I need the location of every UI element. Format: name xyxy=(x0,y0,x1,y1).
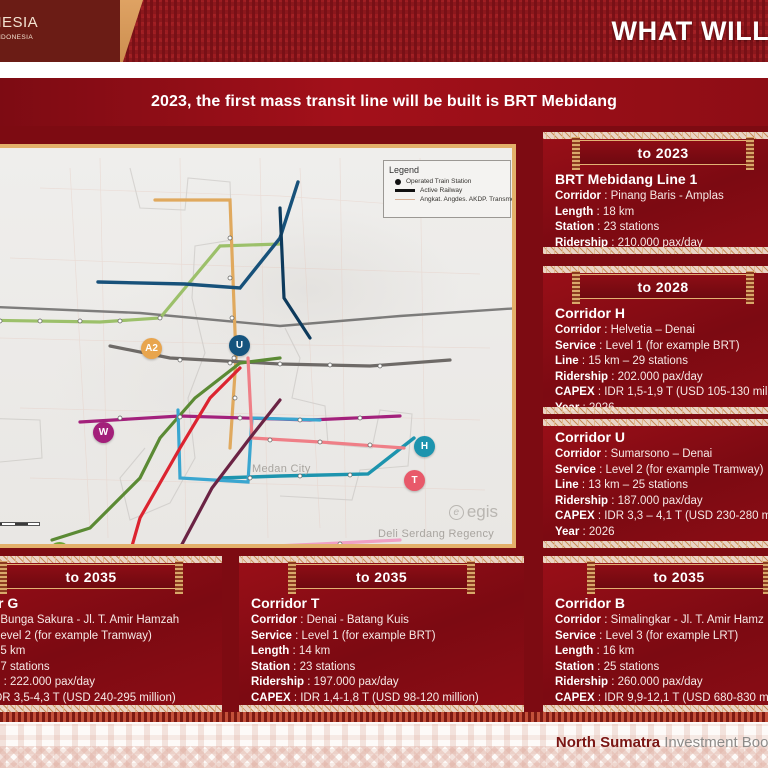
card-body-2: Corridor U Corridor : Sumarsono – Denai … xyxy=(543,419,768,542)
card-body-3: r G : Bunga Sakura - Jl. T. Amir Hamzah … xyxy=(0,591,222,712)
subtitle-text: 2023, the first mass transit line will b… xyxy=(151,93,617,111)
egis-circle-icon: e xyxy=(449,505,464,520)
card-row-3-2: 15 km xyxy=(0,644,212,660)
card-body-4: Corridor T Corridor : Denai - Batang Kui… xyxy=(239,591,524,712)
card-top-ornament-4 xyxy=(239,556,524,563)
row-key-2-1: Service xyxy=(555,464,596,476)
card-row-3-1: Level 2 (for example Tramway) xyxy=(0,629,212,645)
row-val-5-3: 25 stations xyxy=(604,661,660,673)
card-row-2-4: CAPEX : IDR 3,3 – 4,1 T (USD 230-280 m xyxy=(555,509,768,525)
map-marker-T[interactable]: T xyxy=(404,470,425,491)
row-val-1-2: 15 km – 29 stations xyxy=(588,355,688,367)
row-val-1-3: 202.000 pax/day xyxy=(618,371,703,383)
card-row-2-0: Corridor : Sumarsono – Denai xyxy=(555,447,768,463)
legend-item-active-railway: Active Railway xyxy=(389,187,505,194)
corridor-line-pink xyxy=(40,540,400,544)
row-key-5-0: Corridor xyxy=(555,614,601,626)
legend-transit-line-icon xyxy=(395,199,415,201)
corridor-line-darkgreen xyxy=(52,358,280,540)
logo-main-text: K INDONESIA xyxy=(0,14,126,31)
card-row-4-0: Corridor : Denai - Batang Kuis xyxy=(251,613,514,629)
corridor-line-orange xyxy=(155,200,236,448)
card-ribbon-label-4: to 2035 xyxy=(356,569,407,585)
card-row-1-0: Corridor : Helvetia – Denai xyxy=(555,323,768,339)
card-corridor-b[interactable]: to 2035 Corridor B Corridor : Simalingka… xyxy=(543,556,768,712)
footer-brand: North Sumatra Investment Book xyxy=(556,734,768,751)
row-val-2-2: 13 km – 25 stations xyxy=(588,479,688,491)
card-body-5: Corridor B Corridor : Simalingkar - Jl. … xyxy=(543,591,768,712)
row-key-5-5: CAPEX xyxy=(555,692,595,704)
row-val-0-2: 23 stations xyxy=(604,221,660,233)
row-val-2-3: 187.000 pax/day xyxy=(618,495,703,507)
card-row-2-3: Ridership : 187.000 pax/day xyxy=(555,494,768,510)
legend-label-0: Operated Train Station xyxy=(406,178,471,185)
row-val-4-1: Level 1 (for example BRT) xyxy=(302,630,436,642)
row-val-5-5: IDR 9,9-12,1 T (USD 680-830 m xyxy=(604,692,768,704)
card-row-5-4: Ridership : 260.000 pax/day xyxy=(555,675,768,691)
row-key-5-3: Station xyxy=(555,661,594,673)
map-marker-H[interactable]: H xyxy=(414,436,435,457)
slide-root: K INDONESIA TRAL REPUBLIK INDONESIA WHAT… xyxy=(0,0,768,768)
card-row-2-2: Line : 13 km – 25 stations xyxy=(555,478,768,494)
legend-label-2: Angkat. Angdes. AKDP. Transmebidang xyxy=(420,196,516,203)
card-bottom-ornament-1 xyxy=(543,407,768,414)
row-val-4-5: IDR 1,4-1,8 T (USD 98-120 million) xyxy=(300,692,479,704)
card-row-0-0: Corridor : Pinang Baris - Amplas xyxy=(555,189,768,205)
card-bottom-ornament-3 xyxy=(0,705,222,712)
row-key-1-4: CAPEX xyxy=(555,386,595,398)
row-val-2-0: Sumarsono – Denai xyxy=(611,448,713,460)
row-key-2-4: CAPEX xyxy=(555,510,595,522)
row-key-5-1: Service xyxy=(555,630,596,642)
card-body-1: Corridor H Corridor : Helvetia – Denai S… xyxy=(543,301,768,414)
row-key-1-2: Line xyxy=(555,355,579,367)
row-key-4-5: CAPEX xyxy=(251,692,291,704)
card-ribbon-2023: to 2023 xyxy=(577,140,750,165)
row-val-5-4: 260.000 pax/day xyxy=(618,676,703,688)
card-row-3-0: : Bunga Sakura - Jl. T. Amir Hamzah xyxy=(0,613,212,629)
card-bottom-ornament xyxy=(543,247,768,254)
scale-bar-track xyxy=(0,522,40,526)
legend-item-angkutan: Angkat. Angdes. AKDP. Transmebidang xyxy=(389,196,505,203)
row-val-4-2: 14 km xyxy=(299,645,330,657)
card-heading-2: Corridor U xyxy=(555,429,768,445)
card-ribbon-2035-t: to 2035 xyxy=(293,564,470,589)
card-ribbon-2035-b: to 2035 xyxy=(592,564,766,589)
card-ribbon-label-1: to 2028 xyxy=(637,279,688,295)
card-row-5-5: CAPEX : IDR 9,9-12,1 T (USD 680-830 m xyxy=(555,691,768,707)
legend-item-operated-train-station: Operated Train Station xyxy=(389,178,505,185)
row-key-1-3: Ridership xyxy=(555,371,608,383)
row-val-5-2: 16 km xyxy=(603,645,634,657)
corridor-line-salmon xyxy=(248,358,404,448)
row-val-2-1: Level 2 (for example Tramway) xyxy=(606,464,764,476)
card-row-5-0: Corridor : Simalingkar - Jl. T. Amir Ham… xyxy=(555,613,768,629)
map-marker-W[interactable]: W xyxy=(93,422,114,443)
card-ribbon-label-0: to 2023 xyxy=(637,145,688,161)
row-key-0-0: Corridor xyxy=(555,190,601,202)
row-key-0-1: Length xyxy=(555,206,593,218)
map-scale-bar: km xyxy=(0,522,40,532)
card-row-3-3: 27 stations xyxy=(0,660,212,676)
map-legend: Legend Operated Train Station Active Rai… xyxy=(383,160,511,218)
card-row-4-2: Length : 14 km xyxy=(251,644,514,660)
card-row-4-3: Station : 23 stations xyxy=(251,660,514,676)
card-top-ornament-5 xyxy=(543,556,768,563)
row-val-1-1: Level 1 (for example BRT) xyxy=(606,340,740,352)
legend-title: Legend xyxy=(389,165,505,175)
legend-station-dot-icon xyxy=(395,179,401,185)
legend-label-1: Active Railway xyxy=(420,187,462,194)
row-key-4-3: Station xyxy=(251,661,290,673)
card-ribbon-2035-g: to 2035 xyxy=(4,564,178,589)
card-ribbon-label-3: to 2035 xyxy=(65,569,116,585)
row-val-2-4: IDR 3,3 – 4,1 T (USD 230-280 m xyxy=(604,510,768,522)
card-heading-1: Corridor H xyxy=(555,305,768,321)
card-row-0-2: Station : 23 stations xyxy=(555,220,768,236)
card-top-ornament-3 xyxy=(0,556,222,563)
card-row-2-1: Service : Level 2 (for example Tramway) xyxy=(555,463,768,479)
row-key-2-0: Corridor xyxy=(555,448,601,460)
card-bottom-ornament-4 xyxy=(239,705,524,712)
card-heading-4: Corridor T xyxy=(251,595,514,611)
footer-brand-bold: North Sumatra xyxy=(556,734,660,751)
card-row-0-1: Length : 18 km xyxy=(555,205,768,221)
card-row-2-5: Year : 2026 xyxy=(555,525,768,541)
card-corridor-t[interactable]: to 2035 Corridor T Corridor : Denai - Ba… xyxy=(239,556,524,712)
egis-watermark-text: egis xyxy=(467,502,498,522)
card-bottom-ornament-5 xyxy=(543,705,768,712)
card-ribbon-label-5: to 2035 xyxy=(653,569,704,585)
row-val-4-4: 197.000 pax/day xyxy=(314,676,399,688)
row-val-2-5: 2026 xyxy=(589,526,615,538)
card-corridor-g[interactable]: to 2035 r G : Bunga Sakura - Jl. T. Amir… xyxy=(0,556,222,712)
row-val-1-0: Helvetia – Denai xyxy=(611,324,695,336)
row-val-4-3: 23 stations xyxy=(300,661,356,673)
row-val-4-0: Denai - Batang Kuis xyxy=(307,614,409,626)
map-marker-U[interactable]: U xyxy=(229,335,250,356)
page-footer: North Sumatra Investment Book xyxy=(0,712,768,768)
footer-brand-suffix: Investment Book xyxy=(660,734,768,751)
row-val-0-1: 18 km xyxy=(603,206,634,218)
row-key-4-4: Ridership xyxy=(251,676,304,688)
transit-network-map[interactable]: Medan City Deli Serdang Regency A2 U W H… xyxy=(0,144,516,548)
card-row-3-4: p : 222.000 pax/day xyxy=(0,675,212,691)
card-corridor-u[interactable]: Corridor U Corridor : Sumarsono – Denai … xyxy=(543,419,768,548)
card-row-1-4: CAPEX : IDR 1,5-1,9 T (USD 105-130 mil xyxy=(555,385,768,401)
card-corridor-h[interactable]: to 2028 Corridor H Corridor : Helvetia –… xyxy=(543,266,768,414)
row-key-5-2: Length xyxy=(555,645,593,657)
card-row-4-4: Ridership : 197.000 pax/day xyxy=(251,675,514,691)
row-key-4-0: Corridor xyxy=(251,614,297,626)
card-row-1-1: Service : Level 1 (for example BRT) xyxy=(555,339,768,355)
page-title: WHAT WILL BE BU xyxy=(612,16,768,47)
card-ribbon-2028: to 2028 xyxy=(577,274,750,299)
card-body-0: BRT Mebidang Line 1 Corridor : Pinang Ba… xyxy=(543,167,768,253)
row-val-5-1: Level 3 (for example LRT) xyxy=(606,630,739,642)
bank-indonesia-logo: K INDONESIA TRAL REPUBLIK INDONESIA xyxy=(0,14,126,41)
card-row-1-3: Ridership : 202.000 pax/day xyxy=(555,370,768,386)
card-row-5-1: Service : Level 3 (for example LRT) xyxy=(555,629,768,645)
row-key-5-4: Ridership xyxy=(555,676,608,688)
corridor-line-plum xyxy=(150,400,280,544)
card-heading-0: BRT Mebidang Line 1 xyxy=(555,171,768,187)
row-val-0-0: Pinang Baris - Amplas xyxy=(611,190,724,202)
row-val-5-0: Simalingkar - Jl. T. Amir Hamz xyxy=(611,614,764,626)
row-key-1-1: Service xyxy=(555,340,596,352)
card-heading-3: r G xyxy=(0,595,212,611)
map-marker-A2[interactable]: A2 xyxy=(141,338,162,359)
row-key-2-2: Line xyxy=(555,479,579,491)
row-key-2-3: Ridership xyxy=(555,495,608,507)
card-row-4-1: Service : Level 1 (for example BRT) xyxy=(251,629,514,645)
row-key-4-1: Service xyxy=(251,630,292,642)
card-top-ornament-2 xyxy=(543,419,768,426)
card-row-3-5: DR 3,5-4,3 T (USD 240-295 million) xyxy=(0,691,212,707)
card-row-5-3: Station : 25 stations xyxy=(555,660,768,676)
egis-watermark: e egis xyxy=(449,502,498,522)
page-header: K INDONESIA TRAL REPUBLIK INDONESIA WHAT… xyxy=(0,0,768,62)
row-val-1-4: IDR 1,5-1,9 T (USD 105-130 mil xyxy=(604,386,767,398)
row-key-2-5: Year xyxy=(555,526,579,538)
row-key-4-2: Length xyxy=(251,645,289,657)
row-key-1-0: Corridor xyxy=(555,324,601,336)
card-heading-5: Corridor B xyxy=(555,595,768,611)
logo-sub-text: TRAL REPUBLIK INDONESIA xyxy=(0,34,126,41)
card-bottom-ornament-2 xyxy=(543,541,768,548)
row-key-0-2: Station xyxy=(555,221,594,233)
footer-red-band xyxy=(0,712,768,722)
card-brt-mebidang-line-1[interactable]: to 2023 BRT Mebidang Line 1 Corridor : P… xyxy=(543,132,768,254)
card-row-4-5: CAPEX : IDR 1,4-1,8 T (USD 98-120 millio… xyxy=(251,691,514,707)
legend-railway-line-icon xyxy=(395,189,415,192)
card-row-1-2: Line : 15 km – 29 stations xyxy=(555,354,768,370)
subtitle-bar: 2023, the first mass transit line will b… xyxy=(0,78,768,126)
map-canvas: Medan City Deli Serdang Regency A2 U W H… xyxy=(0,148,512,544)
card-row-5-2: Length : 16 km xyxy=(555,644,768,660)
